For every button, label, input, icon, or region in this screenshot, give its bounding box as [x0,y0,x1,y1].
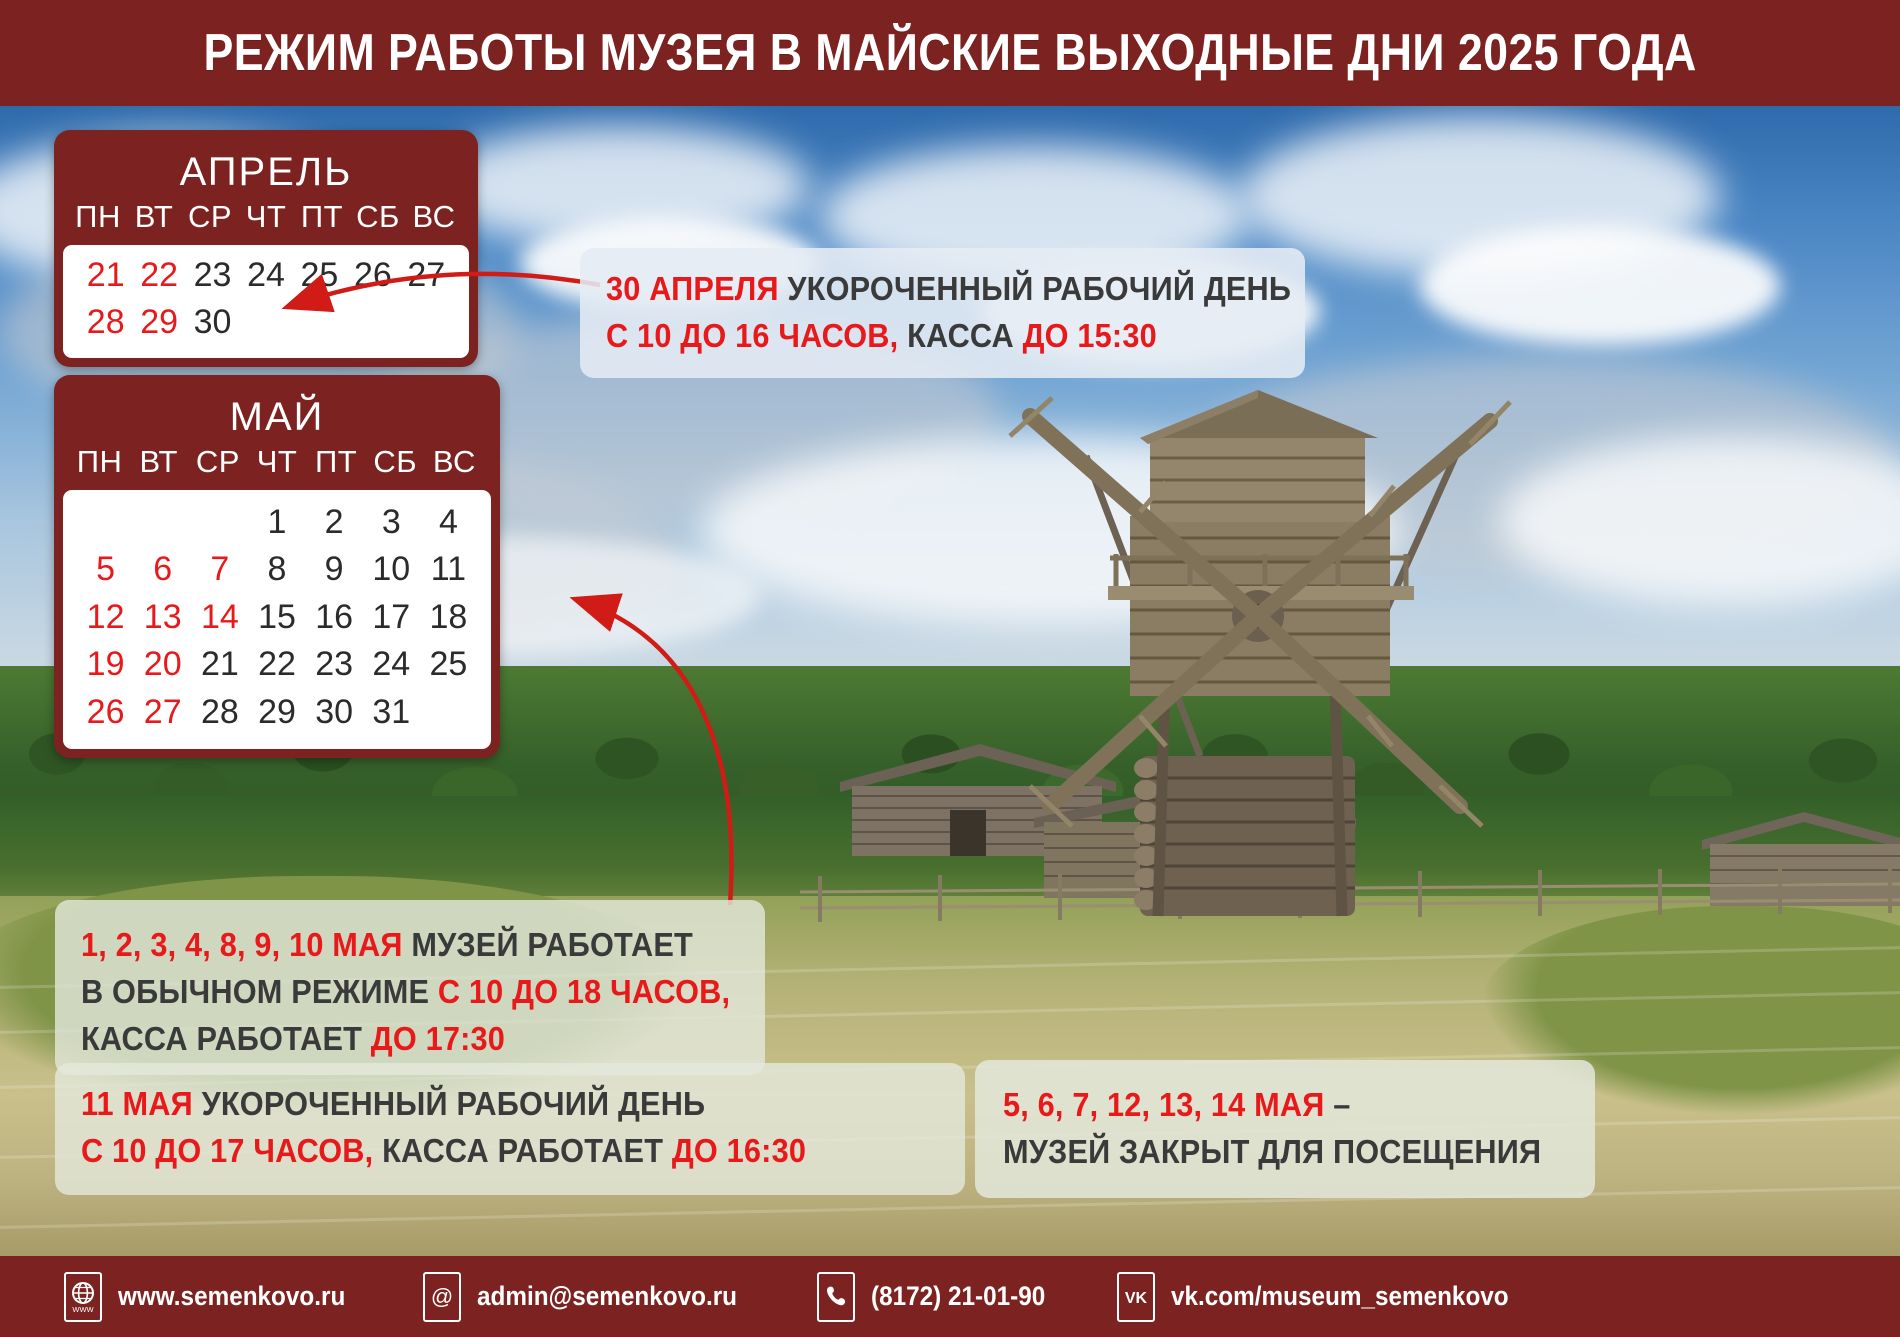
callout-line: С 10 ДО 16 ЧАСОВ, КАССА ДО 15:30 [606,313,1232,360]
contact-vk[interactable]: VK vk.com/museum_semenkovo [1117,1272,1546,1322]
calendar-day: 23 [186,255,239,296]
vk-icon: VK [1117,1272,1155,1322]
svg-text:VK: VK [1125,1290,1148,1307]
callout-line: 5, 6, 7, 12, 13, 14 МАЯ – [1003,1082,1528,1129]
callout-highlight: С 10 ДО 16 ЧАСОВ, [606,317,898,354]
calendar-day: 27 [134,692,191,733]
weekday-header-row: ПНВТСРЧТПТСБВС [54,444,500,490]
callout-line: 11 МАЯ УКОРОЧЕННЫЙ РАБОЧИЙ ДЕНЬ [81,1081,879,1128]
calendar-day: 25 [293,255,346,296]
calendar-day: 21 [191,644,248,685]
calendar-day: 20 [134,644,191,685]
weekday-label: ВС [425,444,484,480]
callout-text: КАССА РАБОТАЕТ [81,1020,371,1057]
callout-line: В ОБЫЧНОМ РЕЖИМЕ С 10 ДО 18 ЧАСОВ, [81,969,693,1016]
calendar-day-grid: 1234567891011121314151617181920212223242… [63,490,491,749]
contact-phone[interactable]: (8172) 21-01-90 [817,1272,1065,1322]
calendar-day: 26 [346,255,399,296]
callout-text: МУЗЕЙ РАБОТАЕТ [403,926,693,963]
calendar-day: 24 [239,255,292,296]
calendar-day: 13 [134,597,191,638]
callout-lines: 30 АПРЕЛЯ УКОРОЧЕННЫЙ РАБОЧИЙ ДЕНЬС 10 Д… [606,266,1279,360]
calendar-day: 30 [306,692,363,733]
calendar-day: 10 [363,549,420,590]
calendar-day: 16 [306,597,363,638]
svg-text:@: @ [430,1284,452,1309]
calendar-day-grid: 21222324252627282930 [63,245,469,358]
contact-website-text: www.semenkovo.ru [118,1281,345,1312]
weekday-label: ЧТ [247,444,306,480]
contact-phone-text: (8172) 21-01-90 [871,1281,1045,1312]
calendar-day: 25 [420,644,477,685]
callout-text: – [1324,1086,1350,1123]
calendar-day: 5 [77,549,134,590]
page-title: РЕЖИМ РАБОТЫ МУЗЕЯ В МАЙСКИЕ ВЫХОДНЫЕ ДН… [203,23,1696,83]
callout-may-open-days: 1, 2, 3, 4, 8, 9, 10 МАЯ МУЗЕЙ РАБОТАЕТВ… [55,900,765,1075]
email-at-icon: @ [423,1272,461,1322]
weekday-label: ВС [406,199,462,235]
weekday-label: ВТ [126,199,182,235]
callout-line: 1, 2, 3, 4, 8, 9, 10 МАЯ МУЗЕЙ РАБОТАЕТ [81,922,693,969]
calendar-day: 17 [363,597,420,638]
wooden-windmill [990,286,1550,986]
calendar-day: 21 [79,255,132,296]
callout-highlight: ДО 17:30 [371,1020,505,1057]
calendar-day: 18 [420,597,477,638]
calendar-day: 27 [400,255,453,296]
callout-lines: 1, 2, 3, 4, 8, 9, 10 МАЯ МУЗЕЙ РАБОТАЕТВ… [81,922,739,1063]
calendar-day: 15 [248,597,305,638]
calendar-day: 11 [420,549,477,590]
callout-line: 30 АПРЕЛЯ УКОРОЧЕННЫЙ РАБОЧИЙ ДЕНЬ [606,266,1232,313]
calendar-day: 1 [248,502,305,543]
calendar-day: 23 [306,644,363,685]
weekday-label: СБ [366,444,425,480]
calendar-day: 26 [77,692,134,733]
calendar-day: 28 [79,302,132,343]
callout-may-short-day: 11 МАЯ УКОРОЧЕННЫЙ РАБОЧИЙ ДЕНЬС 10 ДО 1… [55,1063,965,1195]
callout-text: КАССА РАБОТАЕТ [373,1132,671,1169]
svg-text:WWW: WWW [72,1305,94,1314]
weekday-label: СР [182,199,238,235]
calendar-day: 12 [77,597,134,638]
callout-line: КАССА РАБОТАЕТ ДО 17:30 [81,1016,693,1063]
header-bar: РЕЖИМ РАБОТЫ МУЗЕЯ В МАЙСКИЕ ВЫХОДНЫЕ ДН… [0,0,1900,106]
calendar-day: 19 [77,644,134,685]
callout-highlight: ДО 16:30 [672,1132,806,1169]
weekday-label: СР [188,444,247,480]
calendar-day: 4 [420,502,477,543]
calendar-day: 22 [132,255,185,296]
callout-highlight: 5, 6, 7, 12, 13, 14 МАЯ [1003,1086,1324,1123]
calendar-may: МАЙ ПНВТСРЧТПТСБВС 123456789101112131415… [54,375,500,758]
poster: РЕЖИМ РАБОТЫ МУЗЕЯ В МАЙСКИЕ ВЫХОДНЫЕ ДН… [0,0,1900,1337]
callout-may-closed-days: 5, 6, 7, 12, 13, 14 МАЯ –МУЗЕЙ ЗАКРЫТ ДЛ… [975,1060,1595,1198]
callout-highlight: С 10 ДО 17 ЧАСОВ, [81,1132,373,1169]
globe-www-icon: WWW [64,1272,102,1322]
callout-line: С 10 ДО 17 ЧАСОВ, КАССА РАБОТАЕТ ДО 16:3… [81,1128,879,1175]
contact-email-text: admin@semenkovo.ru [477,1281,737,1312]
phone-icon [817,1272,855,1322]
weekday-header-row: ПНВТСРЧТПТСБВС [54,199,478,245]
callout-text: УКОРОЧЕННЫЙ РАБОЧИЙ ДЕНЬ [193,1085,705,1122]
weekday-label: ПН [70,199,126,235]
contact-email[interactable]: @ admin@semenkovo.ru [423,1272,766,1322]
callout-text: КАССА [898,317,1022,354]
weekday-label: ВТ [129,444,188,480]
contact-vk-text: vk.com/museum_semenkovo [1171,1281,1509,1312]
callout-highlight: 30 АПРЕЛЯ [606,270,779,307]
weekday-label: ЧТ [238,199,294,235]
calendar-day: 9 [306,549,363,590]
weekday-label: ПТ [294,199,350,235]
callout-highlight: 11 МАЯ [81,1085,193,1122]
weekday-label: ПТ [307,444,366,480]
calendar-day: 2 [306,502,363,543]
callout-april-short-day: 30 АПРЕЛЯ УКОРОЧЕННЫЙ РАБОЧИЙ ДЕНЬС 10 Д… [580,248,1305,378]
calendar-day: 28 [191,692,248,733]
calendar-day: 22 [248,644,305,685]
calendar-day: 31 [363,692,420,733]
calendar-day: 29 [132,302,185,343]
callout-text: УКОРОЧЕННЫЙ РАБОЧИЙ ДЕНЬ [779,270,1291,307]
callout-highlight: ДО 15:30 [1023,317,1157,354]
callout-highlight: 1, 2, 3, 4, 8, 9, 10 МАЯ [81,926,403,963]
weekday-label: СБ [350,199,406,235]
calendar-month-label: МАЙ [54,385,500,444]
weekday-label: ПН [70,444,129,480]
calendar-april: АПРЕЛЬ ПНВТСРЧТПТСБВС 212223242526272829… [54,130,478,367]
calendar-day: 6 [134,549,191,590]
calendar-day: 7 [191,549,248,590]
calendar-day: 8 [248,549,305,590]
calendar-day: 29 [248,692,305,733]
callout-lines: 11 МАЯ УКОРОЧЕННЫЙ РАБОЧИЙ ДЕНЬС 10 ДО 1… [81,1081,939,1175]
calendar-day: 24 [363,644,420,685]
callout-line: МУЗЕЙ ЗАКРЫТ ДЛЯ ПОСЕЩЕНИЯ [1003,1129,1528,1176]
calendar-day: 30 [186,302,239,343]
calendar-day: 14 [191,597,248,638]
callout-text: МУЗЕЙ ЗАКРЫТ ДЛЯ ПОСЕЩЕНИЯ [1003,1133,1541,1170]
callout-lines: 5, 6, 7, 12, 13, 14 МАЯ –МУЗЕЙ ЗАКРЫТ ДЛ… [1003,1082,1567,1176]
calendar-month-label: АПРЕЛЬ [54,140,478,199]
calendar-day: 3 [363,502,420,543]
callout-highlight: С 10 ДО 18 ЧАСОВ, [438,973,730,1010]
callout-text: В ОБЫЧНОМ РЕЖИМЕ [81,973,438,1010]
contact-website[interactable]: WWW www.semenkovo.ru [64,1272,371,1322]
footer-contact-bar: WWW www.semenkovo.ru @ admin@semenkovo.r… [0,1256,1900,1337]
